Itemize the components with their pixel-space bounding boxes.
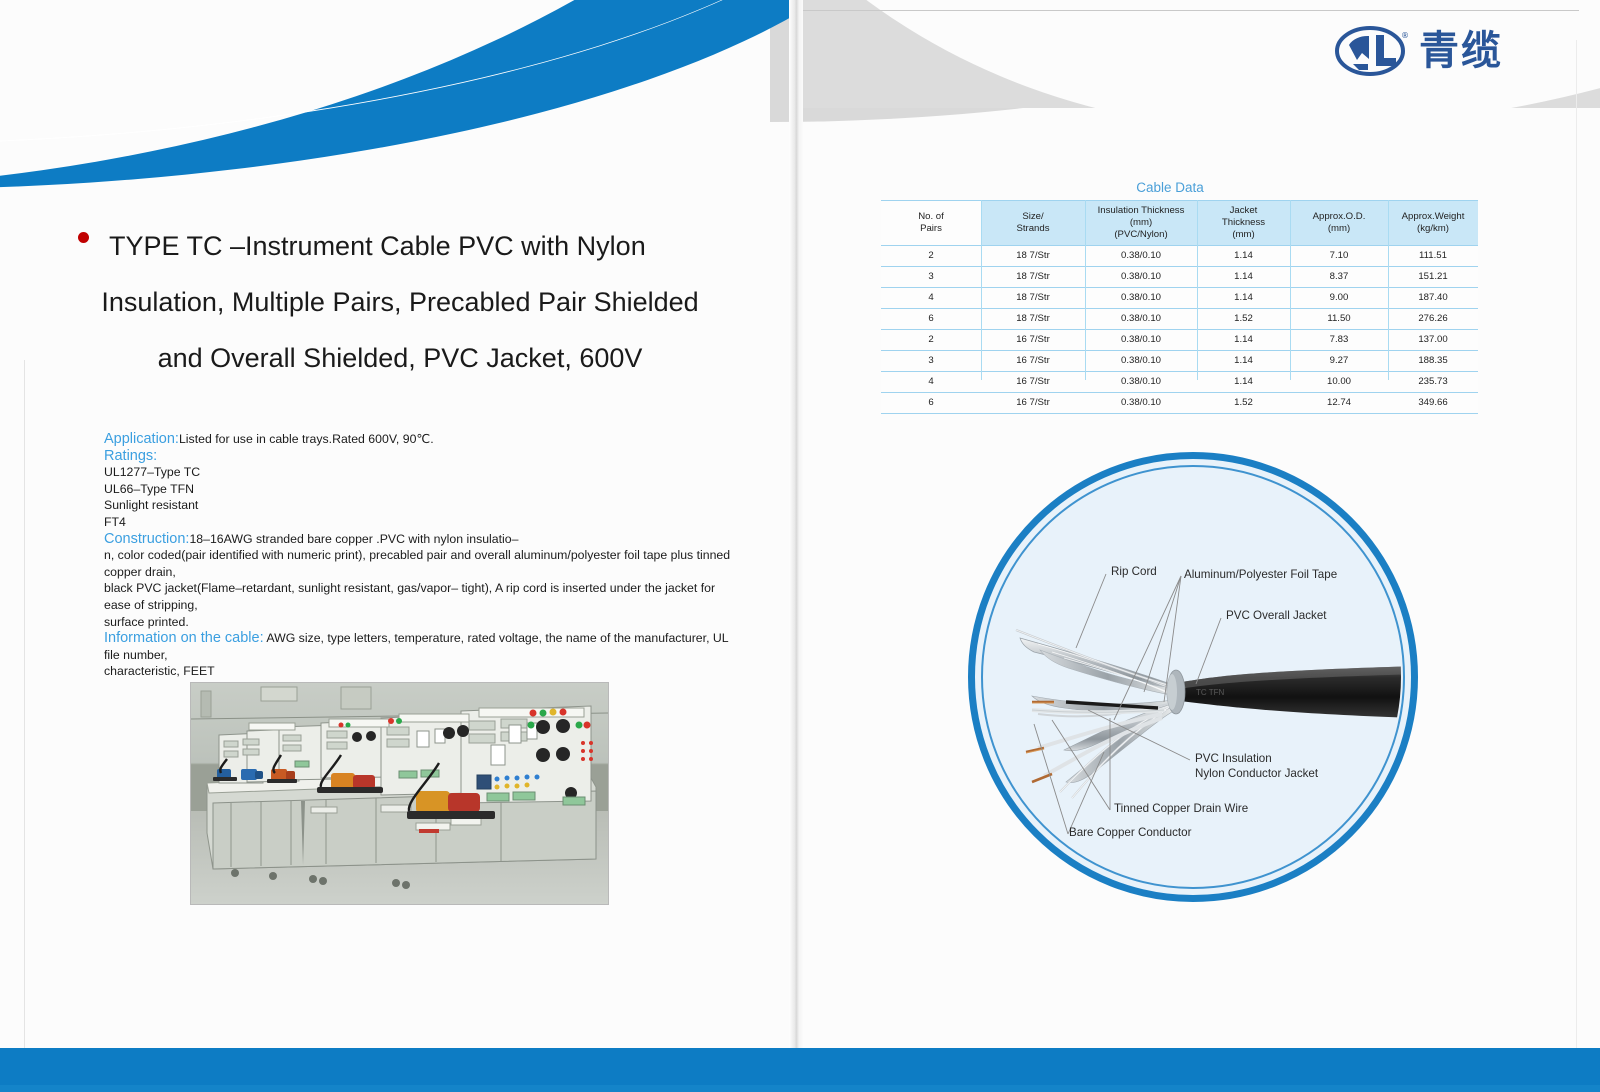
- footer-blue-bar-inner: [0, 1085, 1600, 1092]
- cell-pairs: 6: [881, 309, 981, 330]
- information-line-2: characteristic, FEET: [104, 663, 744, 680]
- cell-weight: 349.66: [1388, 393, 1478, 414]
- cell-od: 9.27: [1290, 351, 1388, 372]
- label-foil-tape: Aluminum/Polyester Foil Tape: [1184, 567, 1337, 582]
- ratings-item-3: Sunlight resistant: [104, 497, 744, 514]
- title-line-2: Insulation, Multiple Pairs, Precabled Pa…: [60, 274, 740, 330]
- cell-insulation: 0.38/0.10: [1085, 288, 1197, 309]
- cell-pairs: 2: [881, 246, 981, 267]
- header-line: Size/: [981, 211, 1085, 223]
- cell-size: 18 7/Str: [981, 288, 1085, 309]
- cell-insulation: 0.38/0.10: [1085, 267, 1197, 288]
- header-line: Strands: [981, 223, 1085, 235]
- cell-od: 12.74: [1290, 393, 1388, 414]
- cell-size: 18 7/Str: [981, 267, 1085, 288]
- construction-row: Construction:18–16AWG stranded bare copp…: [104, 531, 744, 548]
- cell-insulation: 0.38/0.10: [1085, 393, 1197, 414]
- construction-label: Construction:: [104, 531, 189, 547]
- label-tinned-copper-drain-wire: Tinned Copper Drain Wire: [1114, 801, 1248, 816]
- header-line: (mm): [1085, 217, 1197, 229]
- header-line: Approx.Weight: [1388, 211, 1478, 223]
- ratings-label: Ratings:: [104, 448, 744, 465]
- specification-block: Application:Listed for use in cable tray…: [104, 431, 744, 680]
- ratings-item-2: UL66–Type TFN: [104, 481, 744, 498]
- logo-chinese-text: 青缆: [1419, 31, 1503, 71]
- table-row: 6 16 7/Str 0.38/0.10 1.52 12.74 349.66: [881, 393, 1478, 414]
- cell-weight: 276.26: [1388, 309, 1478, 330]
- application-label: Application:: [104, 431, 179, 447]
- construction-line-2: n, color coded(pair identified with nume…: [104, 547, 744, 580]
- table-col-divider: [1290, 200, 1291, 380]
- cell-weight: 137.00: [1388, 330, 1478, 351]
- cell-jacket: 1.52: [1197, 309, 1290, 330]
- right-margin-rule: [1576, 40, 1577, 1048]
- header-line: Approx.O.D.: [1290, 211, 1388, 223]
- cell-size: 16 7/Str: [981, 393, 1085, 414]
- construction-line-4: surface printed.: [104, 614, 744, 631]
- header-line: (PVC/Nylon): [1085, 229, 1197, 241]
- table-col-divider: [1085, 200, 1086, 380]
- cell-pairs: 6: [881, 393, 981, 414]
- information-label: Information on the cable:: [104, 630, 264, 646]
- title-line-1: TYPE TC –Instrument Cable PVC with Nylon: [60, 218, 740, 274]
- lab-photo: [190, 682, 609, 905]
- ratings-item-1: UL1277–Type TC: [104, 464, 744, 481]
- cell-jacket: 1.14: [1197, 288, 1290, 309]
- construction-line-3: black PVC jacket(Flame–retardant, sunlig…: [104, 580, 744, 613]
- header-top-rule: [795, 10, 1579, 11]
- header-size-strands: Size/ Strands: [981, 201, 1085, 246]
- header-line: Thickness: [1197, 217, 1290, 229]
- ratings-item-4: FT4: [104, 514, 744, 531]
- header-insulation-thickness: Insulation Thickness (mm) (PVC/Nylon): [1085, 201, 1197, 246]
- cell-od: 8.37: [1290, 267, 1388, 288]
- cable-diagram: TC TFN: [968, 452, 1418, 902]
- label-rip-cord: Rip Cord: [1111, 564, 1157, 579]
- table-col-divider: [1197, 200, 1198, 380]
- cell-size: 18 7/Str: [981, 309, 1085, 330]
- construction-line-1: 18–16AWG stranded bare copper .PVC with …: [189, 532, 518, 546]
- cable-data-title: Cable Data: [1090, 180, 1250, 195]
- cell-jacket: 1.14: [1197, 267, 1290, 288]
- header-line: No. of: [881, 211, 981, 223]
- cell-size: 16 7/Str: [981, 351, 1085, 372]
- application-row: Application:Listed for use in cable tray…: [104, 431, 744, 448]
- cable-illustration: TC TFN: [968, 452, 1418, 902]
- header-line: (mm): [1290, 223, 1388, 235]
- cell-od: 11.50: [1290, 309, 1388, 330]
- label-pvc-insulation: PVC Insulation: [1195, 751, 1272, 766]
- cell-jacket: 1.14: [1197, 372, 1290, 393]
- cell-weight: 235.73: [1388, 372, 1478, 393]
- cell-jacket: 1.52: [1197, 393, 1290, 414]
- red-bullet-icon: [78, 232, 89, 243]
- cell-weight: 111.51: [1388, 246, 1478, 267]
- cell-weight: 188.35: [1388, 351, 1478, 372]
- cell-weight: 187.40: [1388, 288, 1478, 309]
- header-no-of-pairs: No. of Pairs: [881, 201, 981, 246]
- information-row: Information on the cable: AWG size, type…: [104, 630, 744, 663]
- table-col-divider: [1388, 200, 1389, 380]
- cell-od: 7.10: [1290, 246, 1388, 267]
- ql-oval-logo-icon: ®: [1335, 26, 1409, 76]
- label-nylon-conductor-jacket: Nylon Conductor Jacket: [1195, 766, 1318, 781]
- cell-pairs: 2: [881, 330, 981, 351]
- cell-jacket: 1.14: [1197, 351, 1290, 372]
- cell-insulation: 0.38/0.10: [1085, 246, 1197, 267]
- title-text-1: TYPE TC –Instrument Cable PVC with Nylon: [109, 231, 646, 261]
- cell-od: 10.00: [1290, 372, 1388, 393]
- cell-pairs: 4: [881, 372, 981, 393]
- cell-weight: 151.21: [1388, 267, 1478, 288]
- header-line: (mm): [1197, 229, 1290, 241]
- cell-od: 7.83: [1290, 330, 1388, 351]
- cell-jacket: 1.14: [1197, 330, 1290, 351]
- photo-content: [191, 683, 608, 904]
- page-title: TYPE TC –Instrument Cable PVC with Nylon…: [60, 218, 740, 386]
- cell-size: 16 7/Str: [981, 330, 1085, 351]
- header-line: Jacket: [1197, 205, 1290, 217]
- cell-insulation: 0.38/0.10: [1085, 372, 1197, 393]
- application-value: Listed for use in cable trays.Rated 600V…: [179, 432, 434, 446]
- cell-insulation: 0.38/0.10: [1085, 351, 1197, 372]
- brochure-page: ® 青缆 TYPE TC –Instrument Cable PVC with …: [0, 0, 1600, 1092]
- left-margin-rule: [24, 360, 25, 1048]
- cell-size: 16 7/Str: [981, 372, 1085, 393]
- header-line: Pairs: [881, 223, 981, 235]
- cell-pairs: 3: [881, 351, 981, 372]
- header-approx-od: Approx.O.D. (mm): [1290, 201, 1388, 246]
- header-jacket-thickness: Jacket Thickness (mm): [1197, 201, 1290, 246]
- cell-insulation: 0.38/0.10: [1085, 330, 1197, 351]
- title-line-3: and Overall Shielded, PVC Jacket, 600V: [60, 330, 740, 386]
- table-col-divider: [981, 200, 982, 380]
- cell-pairs: 3: [881, 267, 981, 288]
- cell-insulation: 0.38/0.10: [1085, 309, 1197, 330]
- cell-pairs: 4: [881, 288, 981, 309]
- svg-text:®: ®: [1401, 31, 1409, 40]
- cell-jacket: 1.14: [1197, 246, 1290, 267]
- label-pvc-overall-jacket: PVC Overall Jacket: [1226, 608, 1327, 623]
- company-logo: ® 青缆: [1335, 26, 1503, 76]
- header-line: Insulation Thickness: [1085, 205, 1197, 217]
- cell-size: 18 7/Str: [981, 246, 1085, 267]
- label-bare-copper-conductor: Bare Copper Conductor: [1069, 825, 1191, 840]
- header-approx-weight: Approx.Weight (kg/km): [1388, 201, 1478, 246]
- cell-od: 9.00: [1290, 288, 1388, 309]
- header-line: (kg/km): [1388, 223, 1478, 235]
- page-fold-shadow: [789, 0, 803, 1048]
- svg-text:TC TFN: TC TFN: [1196, 688, 1225, 697]
